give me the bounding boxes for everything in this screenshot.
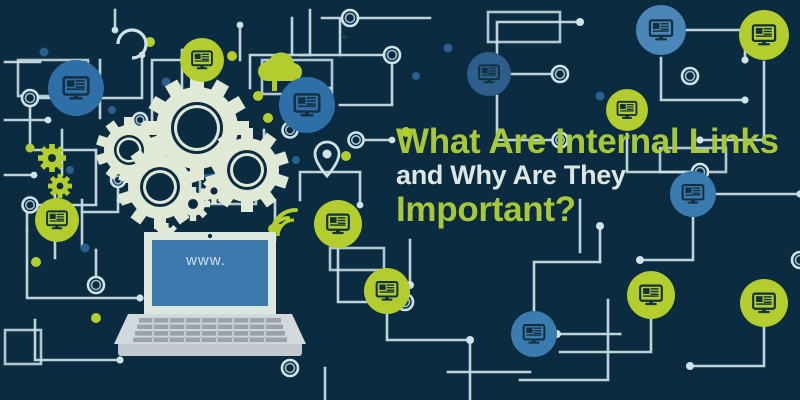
monitor-badge-3 (279, 77, 335, 133)
monitor-badge-8 (35, 198, 79, 242)
monitor-badge-1 (180, 38, 224, 82)
monitor-badge-14 (740, 279, 788, 327)
laptop-screen (152, 240, 268, 306)
gear-tiny-green-1 (38, 144, 66, 172)
headline-line-2: and Why Are They (396, 162, 786, 189)
monitor-badge-11 (364, 268, 410, 314)
headline: What Are Internal Links and Why Are They… (396, 124, 786, 227)
gear-tiny-2 (201, 178, 227, 204)
headline-line-3: Important? (396, 192, 786, 227)
monitor-badge-4 (467, 52, 511, 96)
monitor-badge-5 (636, 5, 686, 55)
monitor-badge-12 (511, 311, 557, 357)
hero-banner: What Are Internal Links and Why Are They… (0, 0, 800, 400)
laptop-screen-text: www. (152, 252, 260, 269)
monitor-badge-6 (739, 10, 789, 60)
monitor-badge-2 (48, 60, 104, 116)
monitor-badge-9 (314, 200, 362, 248)
gear-tiny-green-2 (48, 174, 72, 198)
headline-line-1: What Are Internal Links (396, 124, 786, 159)
monitor-badge-13 (627, 271, 675, 319)
